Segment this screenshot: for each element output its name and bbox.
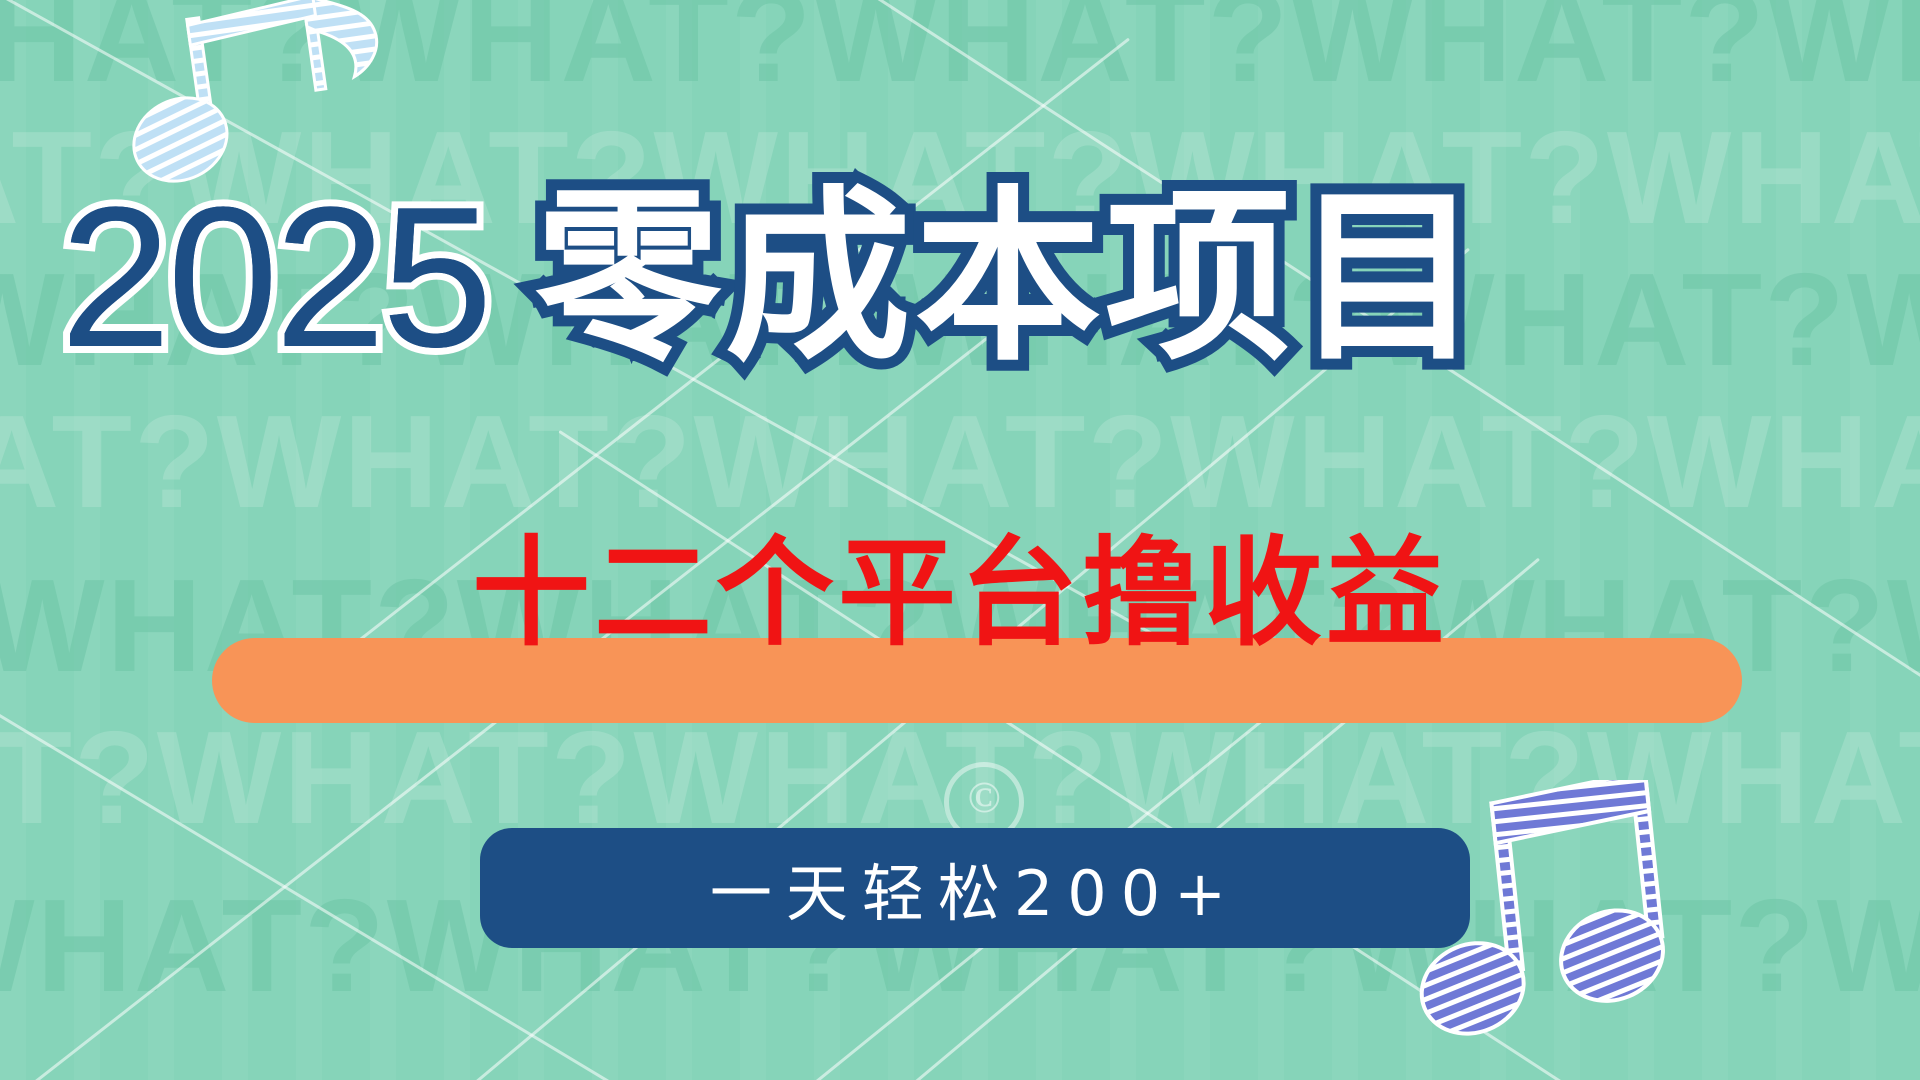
page-title: 2025 2025 零成本项目 零成本项目 (60, 168, 1920, 388)
subtitle-text: 十二个平台撸收益 (0, 528, 1920, 658)
title-headline: 零成本项目 (535, 185, 1485, 371)
callout-text: 一天轻松200+ (480, 828, 1470, 948)
title-year: 2025 (60, 178, 489, 378)
banner-canvas: WHAT?WHAT?WHAT?WHAT?WHAT?WHAT?WHAT?WHAT?… (0, 0, 1920, 1080)
title-headline-group: 零成本项目 零成本项目 (535, 185, 1485, 371)
watermark-row: WHAT?WHAT?WHAT?WHAT?WHAT?WHAT?WHAT?WHAT? (0, 396, 1920, 528)
title-year-group: 2025 2025 (60, 178, 489, 378)
